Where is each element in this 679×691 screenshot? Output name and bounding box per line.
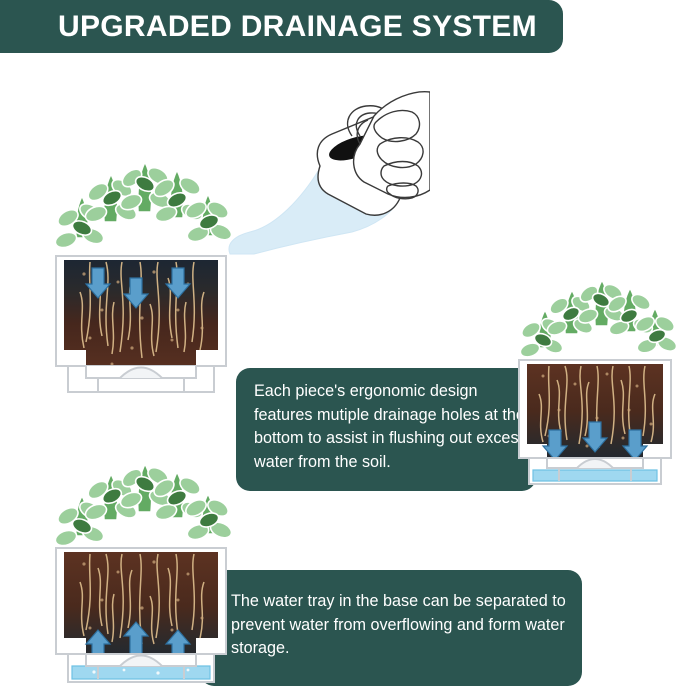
planter-draining-stage bbox=[511, 272, 679, 497]
hand-pouring-watering-can bbox=[224, 86, 430, 271]
infographic-canvas: UPGRADED DRAINAGE SYSTEM bbox=[0, 0, 679, 691]
foliage bbox=[53, 162, 234, 250]
base-tray bbox=[68, 366, 214, 392]
callout-drainage-holes-text: Each piece's ergonomic design features m… bbox=[254, 380, 536, 475]
water-reservoir bbox=[533, 470, 657, 481]
base-tray bbox=[529, 458, 661, 484]
planter-wicking-stage bbox=[46, 458, 236, 691]
callout-water-tray: The water tray in the base can be separa… bbox=[200, 570, 582, 686]
callout-water-tray-text: The water tray in the base can be separa… bbox=[231, 590, 582, 661]
foliage bbox=[518, 280, 678, 359]
foliage bbox=[53, 464, 234, 548]
page-title: UPGRADED DRAINAGE SYSTEM bbox=[58, 12, 537, 42]
hand-outline bbox=[354, 92, 430, 199]
planter-watering-stage bbox=[46, 152, 236, 400]
header-banner: UPGRADED DRAINAGE SYSTEM bbox=[0, 0, 563, 53]
callout-drainage-holes: Each piece's ergonomic design features m… bbox=[236, 368, 536, 491]
base-tray bbox=[68, 654, 214, 682]
